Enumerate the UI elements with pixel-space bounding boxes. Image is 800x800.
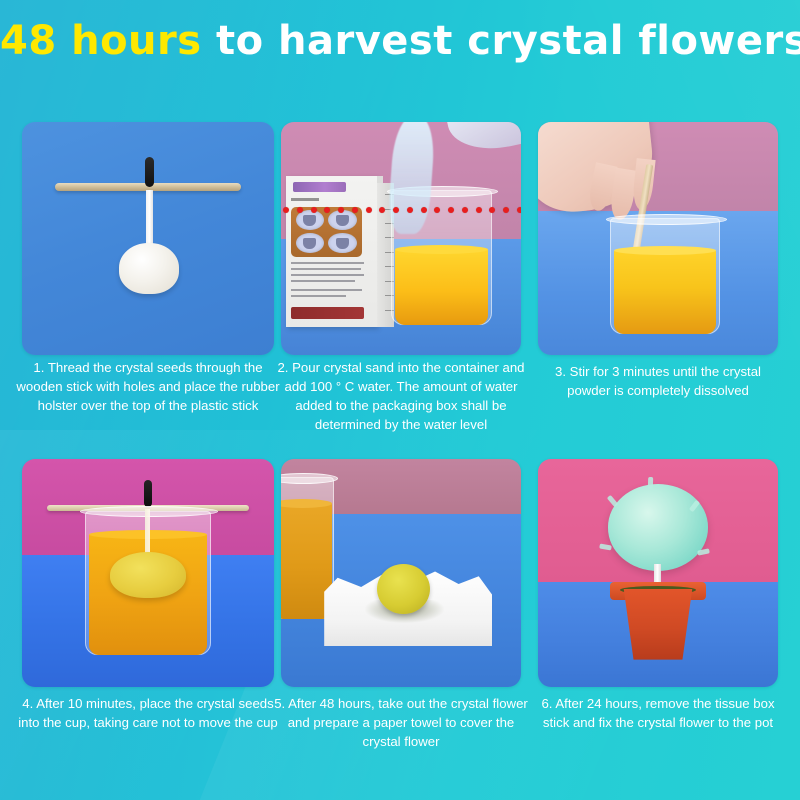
box-text-line-1 (291, 262, 364, 264)
box-footer-banner (291, 307, 364, 319)
step-1-caption: 1. Thread the crystal seeds through the … (16, 358, 280, 415)
crystal-seed-ball (119, 243, 179, 294)
step-5-cell (281, 459, 521, 687)
box-text-line-4 (291, 280, 355, 282)
packaging-box (286, 176, 377, 327)
step-4-photo (22, 459, 274, 687)
page-title: 48 hours to harvest crystal flowers (0, 18, 800, 64)
box-icon-5 (296, 233, 324, 253)
step-6-scene (538, 459, 778, 687)
plastic-cup (610, 218, 720, 335)
step-6-caption: 6. After 24 hours, remove the tissue box… (532, 694, 784, 732)
step-6-photo (538, 459, 778, 687)
solution-surface (281, 499, 332, 508)
infographic-page: 48 hours to harvest crystal flowers 1. T… (0, 0, 800, 800)
step-2-scene (281, 122, 521, 355)
step-5-photo (281, 459, 521, 687)
title-highlight: 48 hours (0, 18, 202, 64)
box-instruction-panel (291, 207, 362, 257)
box-text-line-6 (291, 295, 346, 297)
step-4-cell (22, 459, 274, 687)
step-3-photo (538, 122, 778, 355)
crystal-sand-solution (395, 249, 488, 325)
step-3-cell (538, 122, 778, 355)
box-text-line-5 (291, 289, 362, 291)
step-2-photo (281, 122, 521, 355)
crystal-flower-head (608, 484, 709, 571)
step-3-scene (538, 122, 778, 355)
water-level-line (281, 207, 521, 213)
solution-surface (395, 245, 488, 254)
step-5-caption: 5. After 48 hours, take out the crystal … (274, 694, 528, 751)
step-6-cell (538, 459, 778, 687)
step-1-photo (22, 122, 274, 355)
step-2-cell (281, 122, 521, 355)
box-icon-3 (296, 210, 324, 230)
step-3-caption: 3. Stir for 3 minutes until the crystal … (532, 362, 784, 400)
step-4-scene (22, 459, 274, 687)
crystal-flower (377, 564, 430, 614)
box-subtitle-line (291, 198, 318, 201)
step-1-scene (22, 122, 274, 355)
dissolved-solution (614, 250, 716, 334)
step-5-scene (281, 459, 521, 687)
rubber-holster (144, 480, 152, 507)
solution-surface (614, 246, 716, 255)
cup-rim (606, 214, 727, 225)
box-logo (293, 182, 346, 193)
crystal-spike-5 (648, 477, 653, 489)
box-text-line-3 (291, 274, 364, 276)
step-2-caption: 2. Pour crystal sand into the container … (274, 358, 528, 434)
step-4-caption: 4. After 10 minutes, place the crystal s… (16, 694, 280, 732)
box-icon-4 (328, 210, 356, 230)
step-1-cell (22, 122, 274, 355)
box-icon-6 (328, 233, 356, 253)
title-rest: to harvest crystal flowers (202, 18, 800, 64)
rubber-holster (145, 157, 154, 187)
crystal-seed-ball (110, 552, 186, 598)
box-text-line-2 (291, 268, 360, 270)
